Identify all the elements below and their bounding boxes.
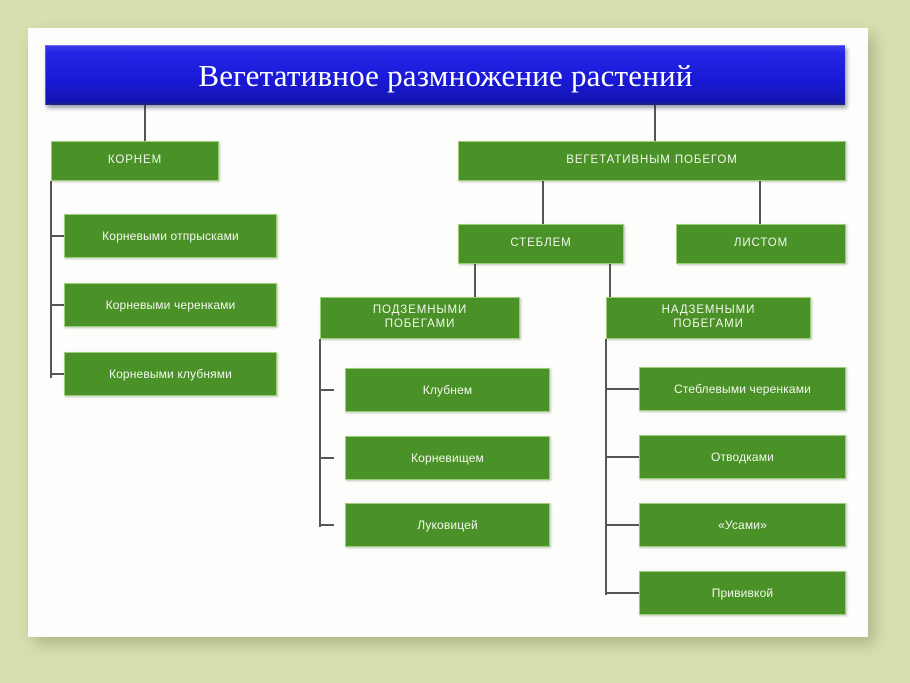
node-vegetativnym-pobegom[interactable]: ВЕГЕТАТИВНЫМ ПОБЕГОМ: [458, 141, 846, 181]
node-label: ЛИСТОМ: [734, 237, 788, 251]
node-kornem[interactable]: КОРНЕМ: [51, 141, 219, 181]
node-label: НАДЗЕМНЫМИ ПОБЕГАМИ: [662, 304, 756, 331]
node-nadzemnymi-pobegami[interactable]: НАДЗЕМНЫМИ ПОБЕГАМИ: [606, 297, 811, 339]
node-otvodkami[interactable]: Отводками: [639, 435, 846, 479]
page-title: Вегетативное размножение растений: [46, 46, 845, 105]
node-podzemnymi-pobegami[interactable]: ПОДЗЕМНЫМИ ПОБЕГАМИ: [320, 297, 520, 339]
node-steblevymi-cherenkami[interactable]: Стеблевыми черенками: [639, 367, 846, 411]
node-label: КОРНЕМ: [108, 154, 162, 168]
node-klubnem[interactable]: Клубнем: [345, 368, 550, 412]
node-label: ВЕГЕТАТИВНЫМ ПОБЕГОМ: [566, 154, 737, 168]
node-listom[interactable]: ЛИСТОМ: [676, 224, 846, 264]
node-steblem[interactable]: СТЕБЛЕМ: [458, 224, 624, 264]
node-label: Отводками: [711, 450, 774, 464]
node-label: Корневыми отпрысками: [102, 229, 239, 243]
node-label: Луковицей: [417, 518, 478, 532]
node-kornevymi-cherenkami[interactable]: Корневыми черенками: [64, 283, 277, 327]
node-kornevishchem[interactable]: Корневищем: [345, 436, 550, 480]
node-label: Корневищем: [411, 451, 484, 465]
node-label: Стеблевыми черенками: [674, 382, 811, 396]
node-label: «Усами»: [718, 518, 767, 532]
node-label: Корневыми черенками: [106, 298, 236, 312]
node-label: СТЕБЛЕМ: [510, 237, 571, 251]
node-privivkoy[interactable]: Прививкой: [639, 571, 846, 615]
node-label: Корневыми клубнями: [109, 367, 232, 381]
slide-stage: Вегетативное размножение растений КОРНЕМ…: [0, 0, 910, 683]
slide-title-banner: Вегетативное размножение растений: [45, 45, 845, 105]
node-label: Клубнем: [423, 383, 473, 397]
node-label: Прививкой: [712, 586, 774, 600]
node-lukovitsey[interactable]: Луковицей: [345, 503, 550, 547]
node-label: ПОДЗЕМНЫМИ ПОБЕГАМИ: [373, 304, 467, 331]
node-usami[interactable]: «Усами»: [639, 503, 846, 547]
node-kornevymi-klubnyami[interactable]: Корневыми клубнями: [64, 352, 277, 396]
node-kornevymi-otpryskami[interactable]: Корневыми отпрысками: [64, 214, 277, 258]
